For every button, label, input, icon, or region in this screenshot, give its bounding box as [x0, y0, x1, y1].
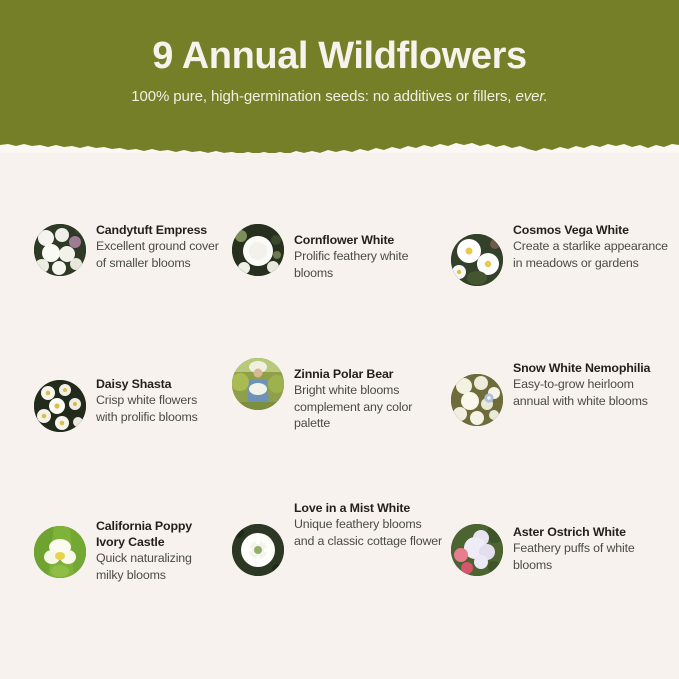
wildflower-title: Daisy Shasta — [96, 376, 220, 392]
wildflower-text: California Poppy Ivory Castle Quick natu… — [86, 518, 220, 583]
wildflower-description: Create a starlike appearance in meadows … — [513, 238, 673, 271]
wildflower-item[interactable]: Cornflower White Prolific feathery white… — [220, 196, 444, 346]
grid-row: Candytuft Empress Excellent ground cover… — [0, 196, 679, 346]
wildflower-description: Crisp white flowers with prolific blooms — [96, 392, 220, 425]
wildflower-item[interactable]: Daisy Shasta Crisp white flowers with pr… — [0, 346, 220, 488]
grid-row: California Poppy Ivory Castle Quick natu… — [0, 488, 679, 638]
cornflower-white-photo — [232, 224, 284, 276]
wildflower-description: Unique feathery blooms and a classic cot… — [294, 516, 444, 549]
wildflower-item[interactable]: Candytuft Empress Excellent ground cover… — [0, 196, 220, 346]
wildflower-infographic: 9 Annual Wildflowers 100% pure, high-ger… — [0, 0, 679, 679]
wildflower-item[interactable]: Love in a Mist White Unique feathery blo… — [220, 488, 444, 638]
wildflower-title: Love in a Mist White — [294, 500, 444, 516]
wildflower-text: Candytuft Empress Excellent ground cover… — [86, 222, 220, 271]
wildflower-description: Prolific feathery white blooms — [294, 248, 444, 281]
wildflower-text: Snow White Nemophilia Easy-to-grow heirl… — [503, 360, 673, 409]
page-subtitle: 100% pure, high-germination seeds: no ad… — [0, 78, 679, 106]
subtitle-main-text: 100% pure, high-germination seeds: no ad… — [131, 88, 515, 105]
wildflower-title: Cosmos Vega White — [513, 222, 673, 238]
wildflower-item[interactable]: Snow White Nemophilia Easy-to-grow heirl… — [444, 346, 679, 488]
wildflower-description: Bright white blooms complement any color… — [294, 382, 444, 432]
wildflower-text: Daisy Shasta Crisp white flowers with pr… — [86, 376, 220, 425]
grid-row: Daisy Shasta Crisp white flowers with pr… — [0, 346, 679, 488]
wildflower-item[interactable]: Zinnia Polar Bear Bright white blooms co… — [220, 346, 444, 488]
wildflower-title: Candytuft Empress — [96, 222, 220, 238]
wildflower-text: Love in a Mist White Unique feathery blo… — [284, 500, 444, 549]
wildflower-title: Cornflower White — [294, 232, 444, 248]
subtitle-emphasis-text: ever. — [515, 88, 547, 105]
daisy-shasta-photo — [34, 380, 86, 432]
zinnia-polar-bear-photo — [232, 358, 284, 410]
wildflower-description: Excellent ground cover of smaller blooms — [96, 238, 220, 271]
wildflower-item[interactable]: Cosmos Vega White Create a starlike appe… — [444, 196, 679, 346]
wildflower-description: Quick naturalizing milky blooms — [96, 550, 220, 583]
wildflower-title: California Poppy Ivory Castle — [96, 518, 220, 550]
snow-white-nemophilia-photo — [451, 374, 503, 426]
wildflower-text: Cosmos Vega White Create a starlike appe… — [503, 222, 673, 271]
wildflower-description: Easy-to-grow heirloom annual with white … — [513, 376, 673, 409]
wildflower-description: Feathery puffs of white blooms — [513, 540, 673, 573]
love-in-a-mist-white-photo — [232, 524, 284, 576]
page-title: 9 Annual Wildflowers — [0, 0, 679, 78]
wildflower-item[interactable]: Aster Ostrich White Feathery puffs of wh… — [444, 488, 679, 638]
wildflower-item[interactable]: California Poppy Ivory Castle Quick natu… — [0, 488, 220, 638]
header-content: 9 Annual Wildflowers 100% pure, high-ger… — [0, 0, 679, 106]
wildflower-text: Cornflower White Prolific feathery white… — [284, 232, 444, 281]
wildflower-title: Snow White Nemophilia — [513, 360, 673, 376]
cosmos-vega-white-photo — [451, 234, 503, 286]
wildflower-text: Aster Ostrich White Feathery puffs of wh… — [503, 524, 673, 573]
wildflower-text: Zinnia Polar Bear Bright white blooms co… — [284, 366, 444, 432]
california-poppy-ivory-castle-photo — [34, 526, 86, 578]
aster-ostrich-white-photo — [451, 524, 503, 576]
candytuft-empress-photo — [34, 224, 86, 276]
header-banner: 9 Annual Wildflowers 100% pure, high-ger… — [0, 0, 679, 152]
wildflower-grid: Candytuft Empress Excellent ground cover… — [0, 196, 679, 638]
wildflower-title: Aster Ostrich White — [513, 524, 673, 540]
wildflower-title: Zinnia Polar Bear — [294, 366, 444, 382]
